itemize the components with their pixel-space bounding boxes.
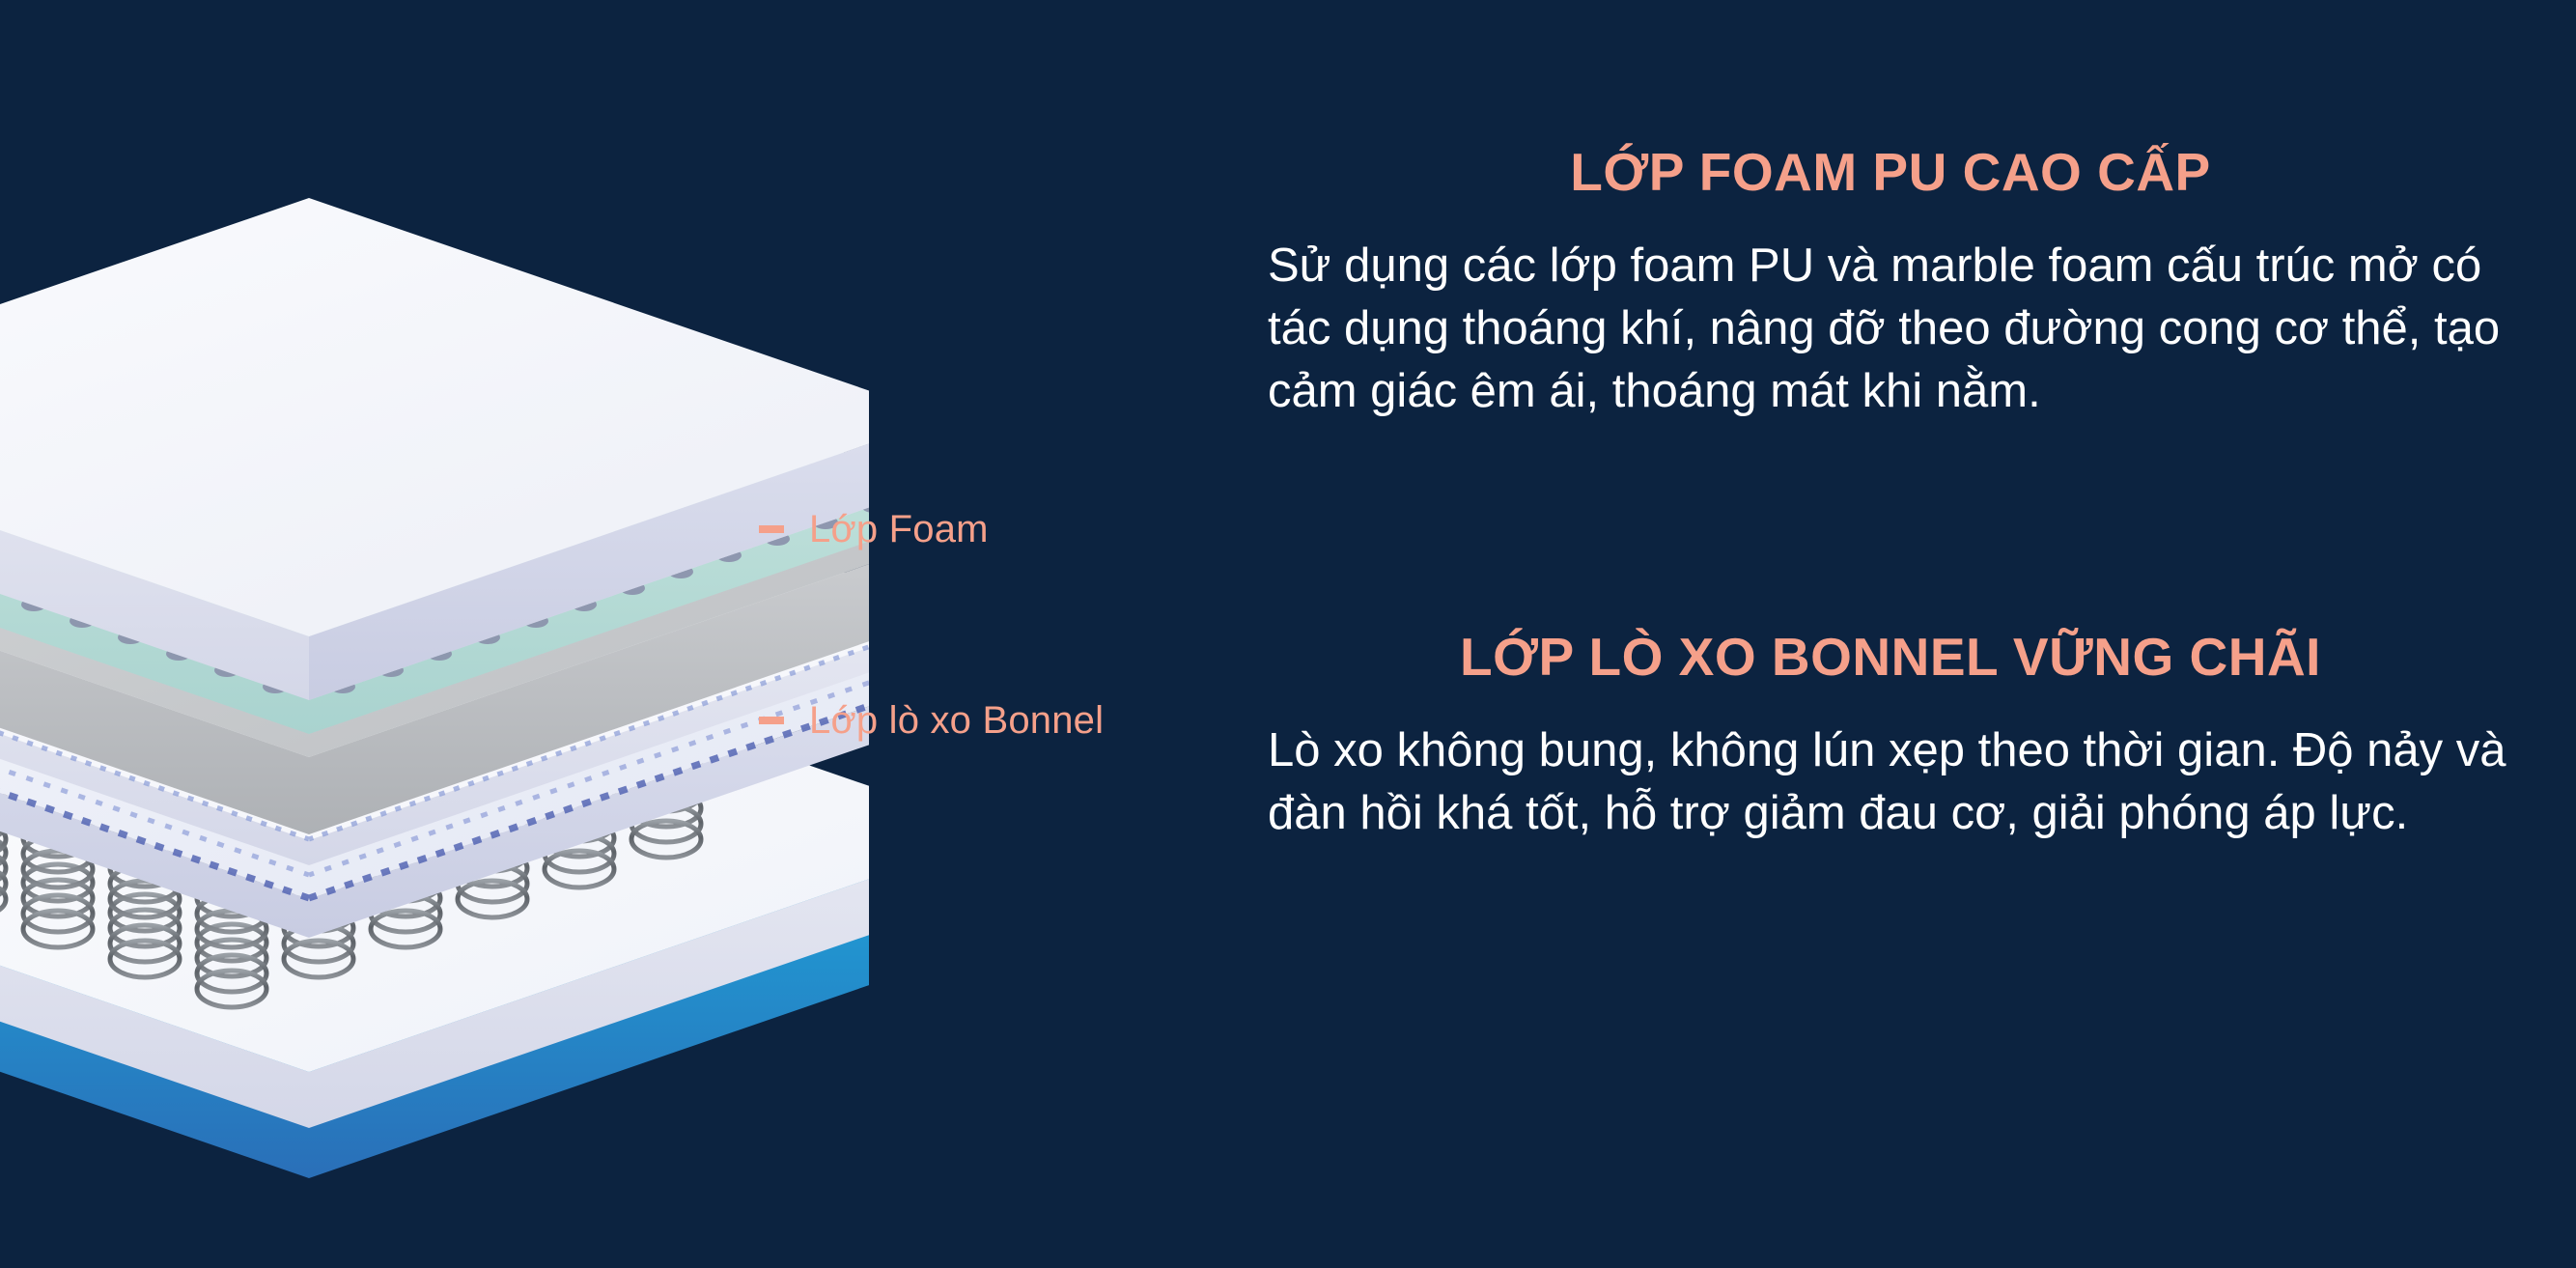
bracket-top-tick — [759, 720, 784, 724]
section-body-spring: Lò xo không bung, không lún xẹp theo thờ… — [1268, 719, 2513, 845]
content-column: LỚP FOAM PU CAO CẤP Sử dụng các lớp foam… — [1268, 0, 2513, 1268]
section-heading-spring: LỚP LÒ XO BONNEL VỮNG CHÃI — [1268, 628, 2513, 687]
bracket-bottom-tick — [759, 717, 784, 720]
infographic-root: Lớp Foam Lớp lò xo Bonnel LỚP FOAM PU CA… — [0, 0, 2576, 1268]
section-heading-foam: LỚP FOAM PU CAO CẤP — [1268, 143, 2513, 202]
section-body-foam: Sử dụng các lớp foam PU và marble foam c… — [1268, 235, 2513, 423]
callout-spring: Lớp lò xo Bonnel — [759, 669, 1104, 772]
callout-foam: Lớp Foam — [759, 465, 989, 593]
bracket-top-tick — [759, 529, 784, 533]
bracket-bottom-tick — [759, 525, 784, 529]
section-spring: LỚP LÒ XO BONNEL VỮNG CHÃI Lò xo không b… — [1268, 628, 2513, 845]
mattress-layers-illustration — [0, 0, 869, 1268]
callout-label-foam: Lớp Foam — [809, 510, 989, 549]
callout-label-spring: Lớp lò xo Bonnel — [809, 701, 1104, 740]
section-foam: LỚP FOAM PU CAO CẤP Sử dụng các lớp foam… — [1268, 143, 2513, 423]
